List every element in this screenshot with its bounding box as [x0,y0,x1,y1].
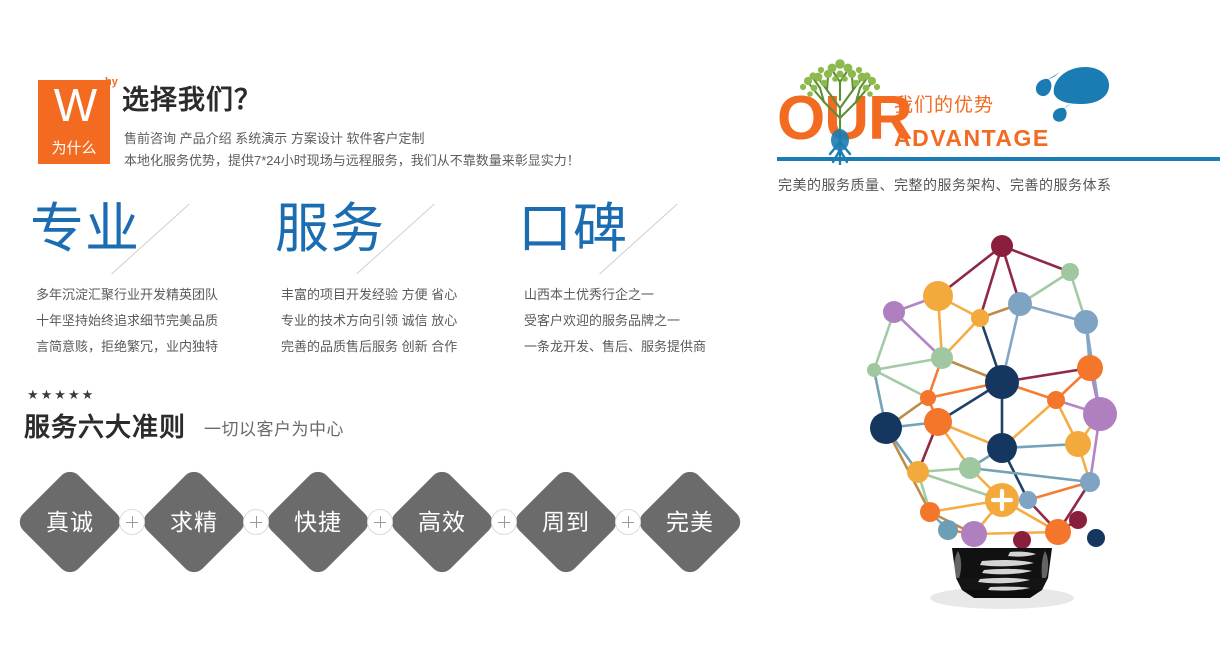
advantage-tagline: 完美的服务质量、完整的服务架构、完善的服务体系 [778,174,1112,196]
principle-label: 高效 [390,470,494,574]
principle-label: 快捷 [266,470,370,574]
principle-diamond[interactable]: 快捷 [266,470,370,574]
principle-diamond[interactable]: 真诚 [18,470,122,574]
feature-column-service: 服务 丰富的项目开发经验 方便 省心 专业的技术方向引领 诚信 放心 完善的品质… [275,200,515,278]
principle-diamond[interactable]: 高效 [390,470,494,574]
feature-text-line: 多年沉淀汇聚行业开发精英团队 [36,282,272,308]
feature-heading: 服务 [275,196,385,262]
network-lightbulb-icon [852,200,1152,620]
plus-separator-icon [491,509,517,535]
plus-separator-icon [243,509,269,535]
principle-diamond[interactable]: 周到 [514,470,618,574]
subtitle-line-1: 售前咨询 产品介绍 系统演示 方案设计 软件客户定制 [124,130,424,148]
feature-column-reputation: 口碑 山西本土优秀行企之一 受客户欢迎的服务品牌之一 一条龙开发、售后、服务提供… [518,200,758,278]
brand-logo-box: W 为什么 [38,80,110,164]
section-subtitle: 一切以客户为中心 [204,418,344,442]
subtitle-line-2: 本地化服务优势，提供7*24小时现场与远程服务，我们从不靠数量来彰显实力！ [124,152,580,170]
why-choose-us-panel: W 为什么 hy 选择我们？ 售前咨询 产品介绍 系统演示 方案设计 软件客户定… [0,0,760,670]
brand-superscript: hy [105,76,118,88]
feature-text-line: 丰富的项目开发经验 方便 省心 [281,282,517,308]
feature-heading-wrap: 服务 [275,200,515,278]
feature-text-list: 丰富的项目开发经验 方便 省心 专业的技术方向引领 诚信 放心 完善的品质售后服… [281,282,517,360]
feature-text-line: 一条龙开发、售后、服务提供商 [524,334,760,360]
feature-text-line: 专业的技术方向引领 诚信 放心 [281,308,517,334]
feature-heading-wrap: 专业 [30,200,270,278]
principle-label: 求精 [142,470,246,574]
plus-separator-icon [119,509,145,535]
principles-diamond-row: 真诚 求精 快捷 高效 周到 [18,462,748,582]
rating-stars-icon: ★★★★★ [27,388,95,401]
advantage-title-en: ADVANTAGE [894,124,1050,152]
feature-text-line: 山西本土优秀行企之一 [524,282,760,308]
principle-label: 周到 [514,470,618,574]
page-root: W 为什么 hy 选择我们？ 售前咨询 产品介绍 系统演示 方案设计 软件客户定… [0,0,1220,670]
principle-label: 真诚 [18,470,122,574]
plus-separator-icon [367,509,393,535]
page-title: 选择我们？ [122,84,262,116]
water-splash-icon [1008,56,1118,126]
section-title: 服务六大准则 [24,410,186,444]
advantage-word-our: OUR [777,88,912,150]
advantage-title-cn: 我们的优势 [894,94,994,118]
feature-heading-wrap: 口碑 [518,200,758,278]
feature-text-line: 受客户欢迎的服务品牌之一 [524,308,760,334]
principle-diamond[interactable]: 求精 [142,470,246,574]
feature-heading: 专业 [30,196,140,262]
feature-column-professional: 专业 多年沉淀汇聚行业开发精英团队 十年坚持始终追求细节完美品质 言简意赅，拒绝… [30,200,270,278]
plus-separator-icon [615,509,641,535]
bulb-base [952,548,1052,598]
principle-label: 完美 [638,470,742,574]
feature-text-list: 多年沉淀汇聚行业开发精英团队 十年坚持始终追求细节完美品质 言简意赅，拒绝繁冗，… [36,282,272,360]
brand-logo-label: 为什么 [38,140,110,158]
feature-text-list: 山西本土优秀行企之一 受客户欢迎的服务品牌之一 一条龙开发、售后、服务提供商 [524,282,760,360]
feature-text-line: 言简意赅，拒绝繁冗，业内独特 [36,334,272,360]
brand-logo-letter: W [38,82,110,128]
feature-heading: 口碑 [518,196,628,262]
principle-diamond[interactable]: 完美 [638,470,742,574]
feature-text-line: 十年坚持始终追求细节完美品质 [36,308,272,334]
header-divider [777,157,1220,161]
feature-text-line: 完善的品质售后服务 创新 合作 [281,334,517,360]
our-advantage-panel: OUR [760,0,1220,670]
